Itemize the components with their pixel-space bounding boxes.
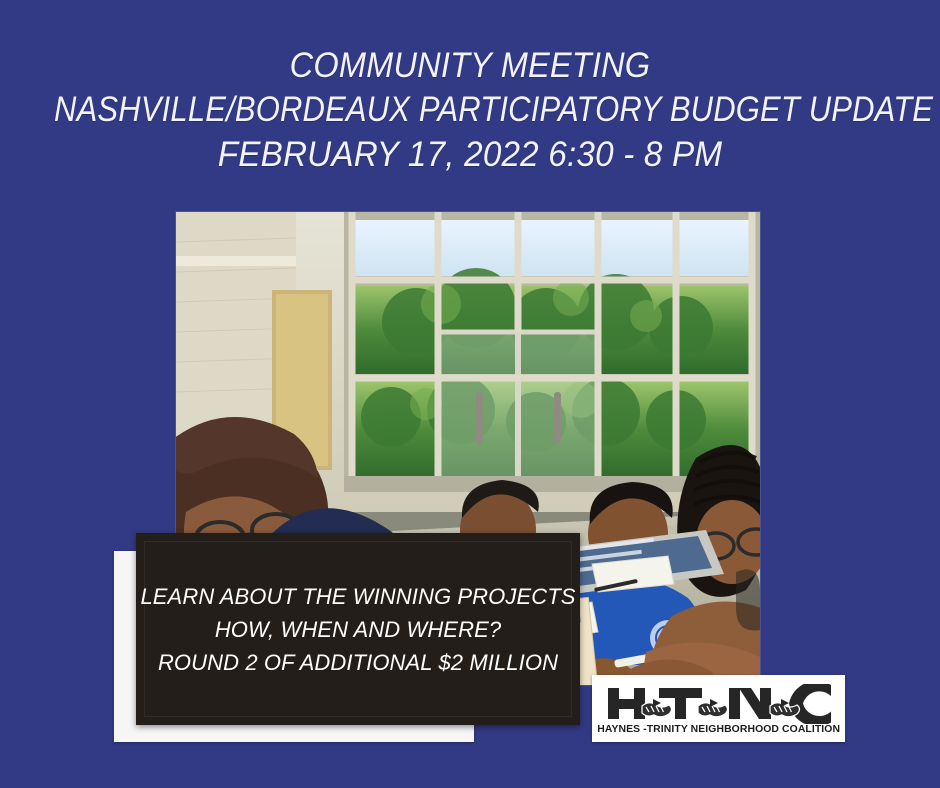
htnc-logo-tagline: HAYNES -TRINITY NEIGHBORHOOD COALITION — [597, 723, 840, 735]
caption-box: LEARN ABOUT THE WINNING PROJECTS HOW, WH… — [136, 533, 580, 725]
caption-line-3: ROUND 2 OF ADDITIONAL $2 MILLION — [140, 646, 575, 679]
headline-line-2: NASHVILLE/BORDEAUX PARTICIPATORY BUDGET … — [54, 88, 886, 132]
caption-text: LEARN ABOUT THE WINNING PROJECTS HOW, WH… — [126, 580, 589, 679]
caption-line-1: LEARN ABOUT THE WINNING PROJECTS — [140, 580, 575, 613]
caption-line-2: HOW, WHEN AND WHERE? — [140, 613, 575, 646]
flyer-canvas: COMMUNITY MEETING NASHVILLE/BORDEAUX PAR… — [0, 0, 940, 788]
headline-line-3: FEBRUARY 17, 2022 6:30 - 8 PM — [24, 132, 917, 178]
htnc-logo-mark — [605, 684, 833, 724]
headline-line-1: COMMUNITY MEETING — [33, 44, 907, 88]
htnc-logo: HAYNES -TRINITY NEIGHBORHOOD COALITION — [592, 675, 845, 742]
flyer-headline: COMMUNITY MEETING NASHVILLE/BORDEAUX PAR… — [0, 44, 940, 178]
